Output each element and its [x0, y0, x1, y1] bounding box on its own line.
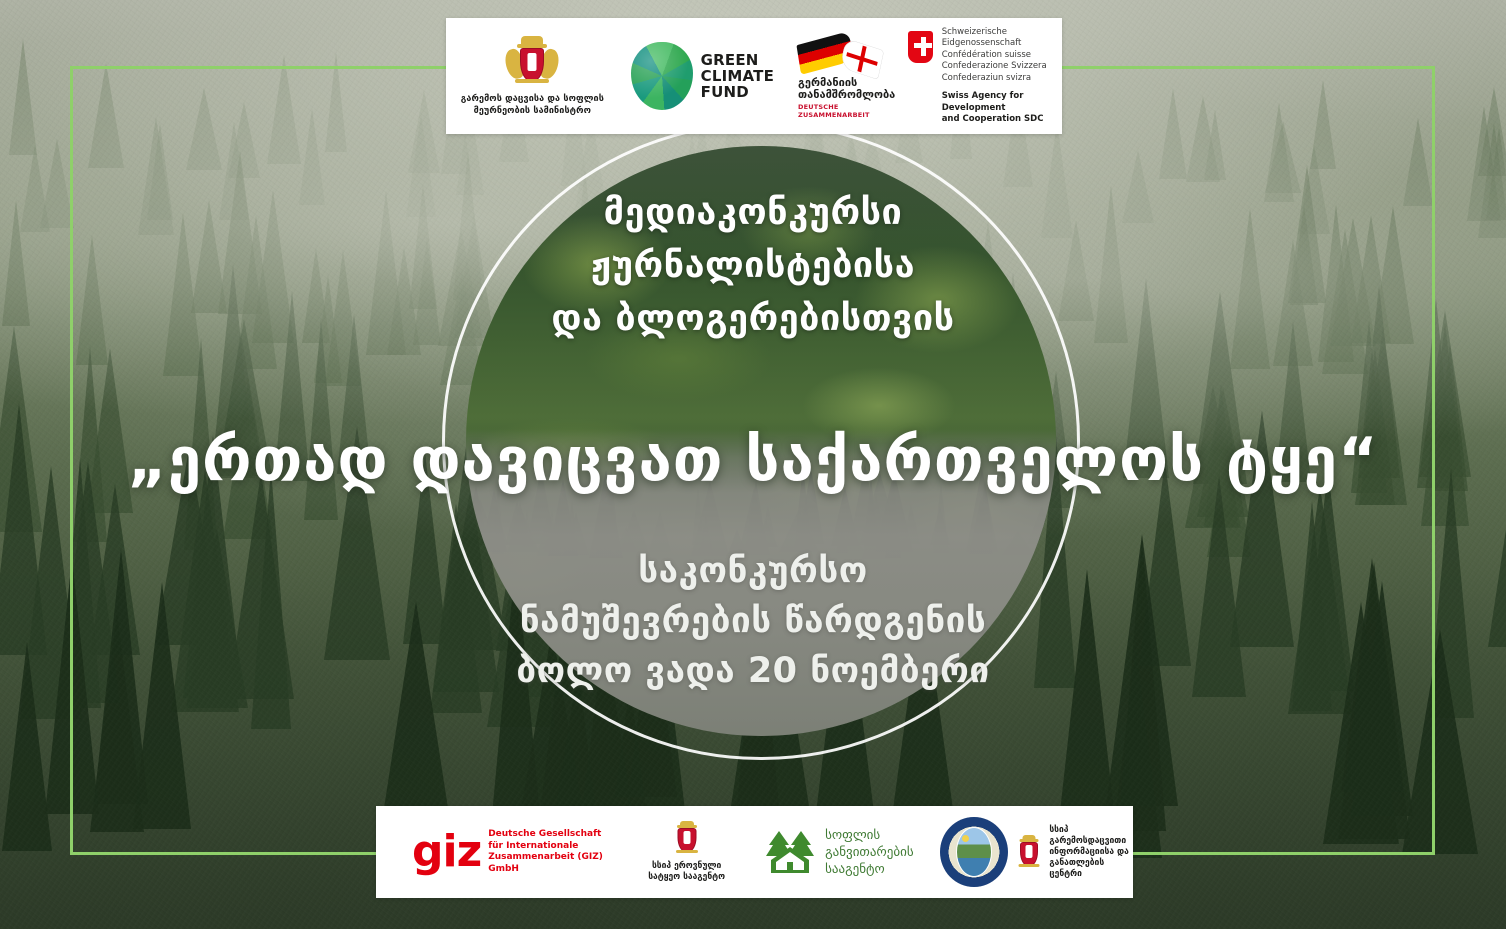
- tree-silhouette: [325, 52, 347, 152]
- circular-state-emblem-icon: [940, 817, 1008, 887]
- de-label-subline: DEUTSCHE ZUSAMMENARBEIT: [798, 103, 892, 119]
- tree-silhouette: [1159, 88, 1187, 179]
- german-georgian-flag-ribbon-icon: [798, 34, 886, 76]
- tree-silhouette: [9, 39, 37, 155]
- logo-ministry-of-environmental-protection: გარემოს დაცვისა და სოფლის მეურნეობის სამ…: [460, 36, 605, 117]
- swiss-label-block: Schweizerische Eidgenossenschaft Confédé…: [942, 27, 1062, 85]
- rural-development-agency-label: სოფლის განვითარების სააგენტო: [825, 827, 914, 878]
- giz-wordmark-icon: giz: [412, 833, 481, 871]
- giz-label: Deutsche Gesellschaft für Internationale…: [488, 829, 604, 875]
- de-label-line-2: თანამშრომლობა: [798, 89, 895, 101]
- forestry-label-line-2: სატყეო სააგენტო: [648, 872, 725, 883]
- two-trees-house-icon: [765, 829, 817, 875]
- top-partner-logo-bar: გარემოს დაცვისა და სოფლის მეურნეობის სამ…: [446, 18, 1062, 134]
- swiss-label-line-2: Confédération suisse: [942, 50, 1062, 62]
- poster-deadline-block: საკონკურსო ნამუშევრების წარდგენის ბოლო ვ…: [0, 546, 1506, 696]
- swiss-cross-icon: [908, 31, 933, 63]
- swiss-label-line-3: Confederazione Svizzera: [942, 61, 1062, 73]
- eiec-label-line-2: ინფორმაციისა და: [1049, 847, 1133, 858]
- giz-label-line-1: Deutsche Gesellschaft: [488, 829, 604, 841]
- kicker-line-1: მედიაკონკურსი: [0, 186, 1506, 239]
- tree-silhouette: [267, 55, 301, 164]
- green-climate-fund-sphere-icon: [631, 42, 693, 110]
- logo-giz: giz Deutsche Gesellschaft für Internatio…: [412, 829, 604, 875]
- swiss-sdc-line-2: and Cooperation SDC: [942, 114, 1062, 126]
- eiec-label-line-3: განათლების ცენტრი: [1049, 858, 1133, 880]
- rda-label-line-1: სოფლის: [825, 827, 914, 844]
- eiec-label: სსიპ გარემოსდაცვითი ინფორმაციისა და განა…: [1049, 825, 1133, 880]
- swiss-label-line-4: Confederaziun svizra: [942, 73, 1062, 85]
- tree-silhouette: [1204, 110, 1226, 180]
- giz-label-line-3: Zusammenarbeit (GIZ) GmbH: [488, 852, 604, 875]
- bottom-partner-logo-bar: giz Deutsche Gesellschaft für Internatio…: [376, 806, 1133, 898]
- subtext-line-2: ნამუშევრების წარდგენის: [0, 596, 1506, 646]
- subtext-line-3: ბოლო ვადა 20 ნოემბერი: [0, 646, 1506, 696]
- rda-label-line-2: განვითარების: [825, 844, 914, 861]
- de-label-line-1: გერმანიის: [798, 77, 895, 89]
- logo-german-cooperation: გერმანიის თანამშრომლობა DEUTSCHE ZUSAMME…: [798, 34, 892, 119]
- georgian-coat-of-arms-icon: [1018, 835, 1042, 869]
- kicker-line-3: და ბლოგერებისთვის: [0, 292, 1506, 345]
- swiss-sdc-label: Swiss Agency for Development and Coopera…: [942, 91, 1062, 126]
- swiss-sdc-line-1: Swiss Agency for Development: [942, 91, 1062, 114]
- green-climate-fund-label: GREEN CLIMATE FUND: [701, 52, 774, 100]
- rda-label-line-3: სააგენტო: [825, 861, 914, 878]
- poster-kicker: მედიაკონკურსი ჟურნალისტებისა და ბლოგერებ…: [0, 186, 1506, 345]
- ministry-logo-label: გარემოს დაცვისა და სოფლის მეურნეობის სამ…: [461, 93, 604, 117]
- georgian-coat-of-arms-icon: [504, 36, 560, 86]
- german-cooperation-label: გერმანიის თანამშრომლობა: [798, 77, 895, 101]
- swiss-labels: Schweizerische Eidgenossenschaft Confédé…: [933, 27, 1062, 126]
- subtext-line-1: საკონკურსო: [0, 546, 1506, 596]
- swiss-label-line-1: Schweizerische Eidgenossenschaft: [942, 27, 1062, 50]
- kicker-line-2: ჟურნალისტებისა: [0, 239, 1506, 292]
- logo-environmental-information-education-centre: სსიპ გარემოსდაცვითი ინფორმაციისა და განა…: [1018, 825, 1133, 880]
- poster-canvas: მედიაკონკურსი ჟურნალისტებისა და ბლოგერებ…: [0, 0, 1506, 929]
- georgian-coat-of-arms-icon: [672, 821, 702, 855]
- gcf-label-line-1: GREEN: [701, 52, 774, 68]
- giz-label-line-2: für Internationale: [488, 841, 604, 853]
- ministry-label-line-1: გარემოს დაცვისა და სოფლის: [461, 93, 604, 105]
- logo-green-climate-fund: GREEN CLIMATE FUND: [631, 42, 774, 110]
- ministry-label-line-2: მეურნეობის სამინისტრო: [461, 105, 604, 117]
- logo-rural-development-agency: სოფლის განვითარების სააგენტო: [765, 827, 914, 878]
- eiec-label-line-1: სსიპ გარემოსდაცვითი: [1049, 825, 1133, 847]
- forestry-label-line-1: სსიპ ეროვნული: [648, 861, 725, 872]
- tree-silhouette: [186, 88, 222, 170]
- gcf-label-line-3: FUND: [701, 84, 774, 100]
- logo-circular-state-emblem: [940, 817, 1008, 887]
- tree-silhouette: [88, 63, 124, 168]
- logo-national-forestry-agency: სსიპ ეროვნული სატყეო სააგენტო: [636, 821, 737, 883]
- forestry-agency-label: სსიპ ეროვნული სატყეო სააგენტო: [648, 861, 725, 883]
- logo-swiss-confederation-sdc: Schweizerische Eidgenossenschaft Confédé…: [908, 27, 1062, 126]
- gcf-label-line-2: CLIMATE: [701, 68, 774, 84]
- tree-silhouette: [1310, 80, 1336, 169]
- poster-headline: „ერთად დავიცვათ საქართველოს ტყე“: [0, 424, 1506, 496]
